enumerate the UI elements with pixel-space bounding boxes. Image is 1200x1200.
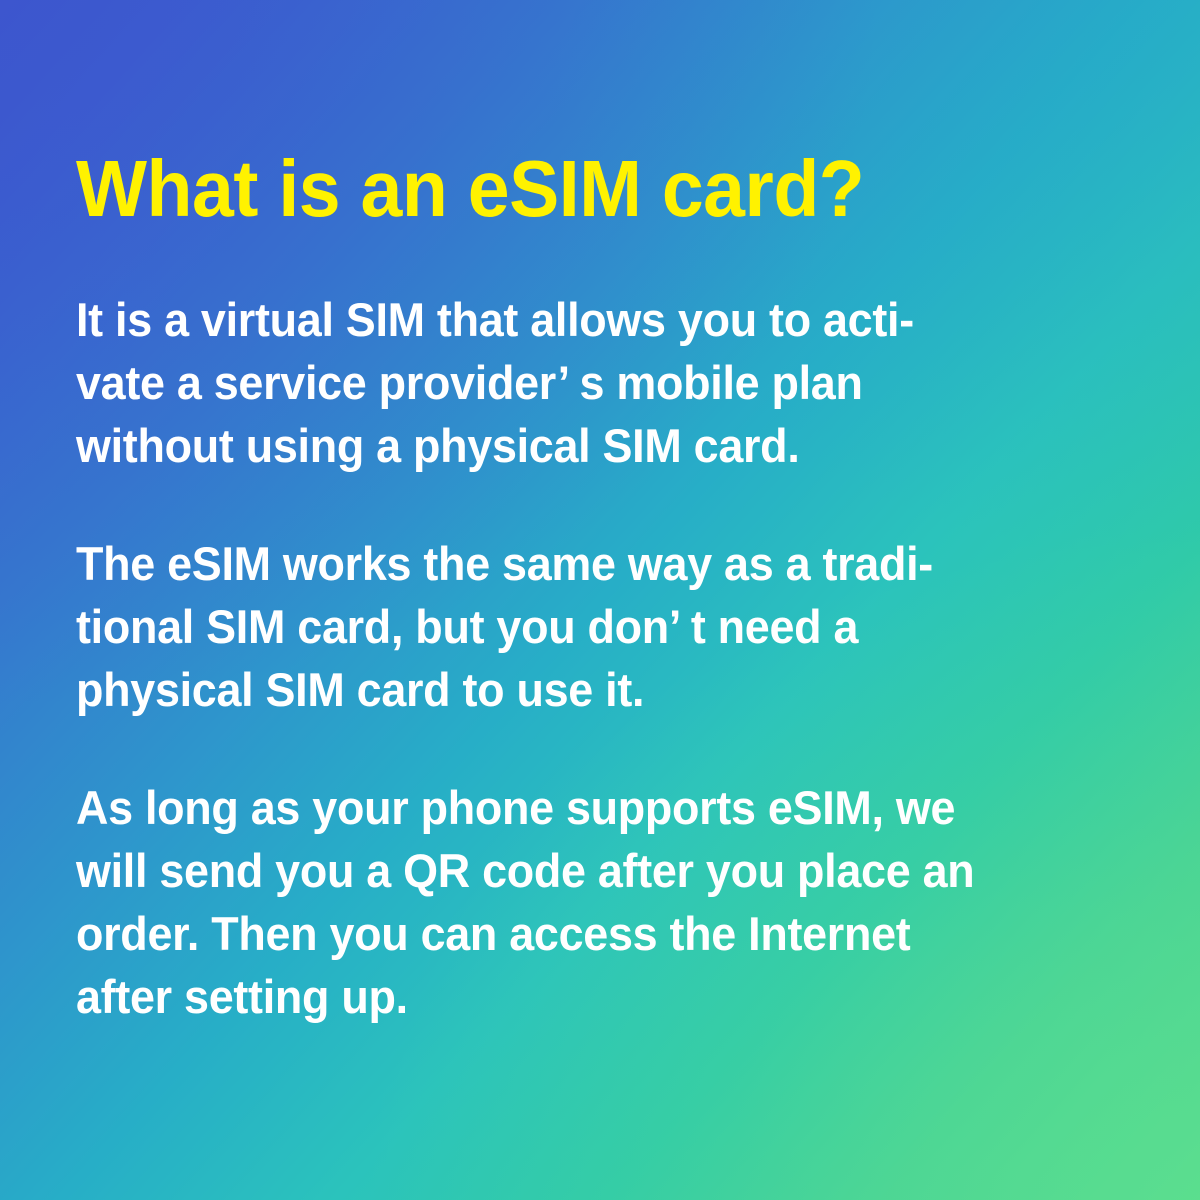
content-container: What is an eSIM card? It is a virtual SI… bbox=[76, 0, 1076, 1200]
page-title: What is an eSIM card? bbox=[76, 146, 864, 232]
esim-info-card: What is an eSIM card? It is a virtual SI… bbox=[0, 0, 1200, 1200]
paragraph-delivery: As long as your phone supports eSIM, we … bbox=[76, 776, 1031, 1028]
paragraph-definition: It is a virtual SIM that allows you to a… bbox=[76, 288, 1031, 477]
paragraph-comparison: The eSIM works the same way as a tradi- … bbox=[76, 532, 1031, 721]
body-text-block: It is a virtual SIM that allows you to a… bbox=[76, 288, 1076, 1028]
